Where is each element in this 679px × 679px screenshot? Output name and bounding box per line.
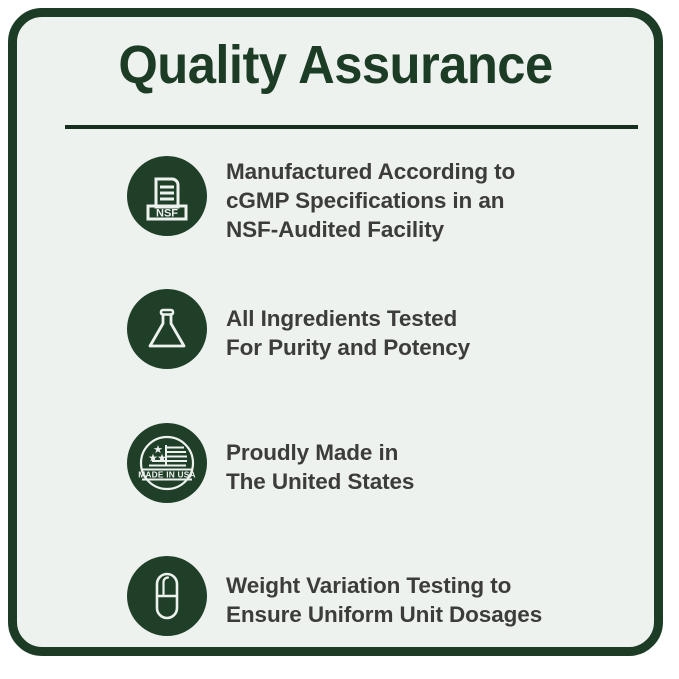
quality-assurance-card: Quality Assurance NSF (8, 8, 663, 656)
list-item: MADE IN USA Proudly Made in The United S… (17, 412, 654, 522)
list-item: All Ingredients Tested For Purity and Po… (17, 278, 654, 388)
list-item-text: All Ingredients Tested For Purity and Po… (226, 278, 646, 388)
title-divider (65, 125, 638, 129)
list-item: NSF Manufactured According to cGMP Speci… (17, 145, 654, 255)
list-item-line: Proudly Made in (226, 438, 646, 467)
nsf-icon-label: NSF (156, 207, 178, 219)
list-item-line: The United States (226, 467, 646, 496)
list-item: Weight Variation Testing to Ensure Unifo… (17, 545, 654, 655)
made-in-usa-seal-icon: MADE IN USA (127, 423, 207, 503)
list-item-text: Proudly Made in The United States (226, 412, 646, 522)
page-title: Quality Assurance (36, 37, 635, 94)
list-item-line: Ensure Uniform Unit Dosages (226, 600, 646, 629)
nsf-document-icon: NSF (127, 156, 207, 236)
list-item-text: Weight Variation Testing to Ensure Unifo… (226, 545, 646, 655)
quality-assurance-page: Quality Assurance NSF (0, 0, 679, 679)
list-item-line: Manufactured According to (226, 157, 646, 186)
made-in-usa-icon-label: MADE IN USA (138, 470, 196, 480)
list-item-line: NSF-Audited Facility (226, 215, 646, 244)
list-item-line: Weight Variation Testing to (226, 571, 646, 600)
list-item-line: For Purity and Potency (226, 333, 646, 362)
list-item-line: All Ingredients Tested (226, 304, 646, 333)
capsule-pill-icon (127, 556, 207, 636)
list-item-line: cGMP Specifications in an (226, 186, 646, 215)
erlenmeyer-flask-icon (127, 289, 207, 369)
list-item-text: Manufactured According to cGMP Specifica… (226, 145, 646, 255)
